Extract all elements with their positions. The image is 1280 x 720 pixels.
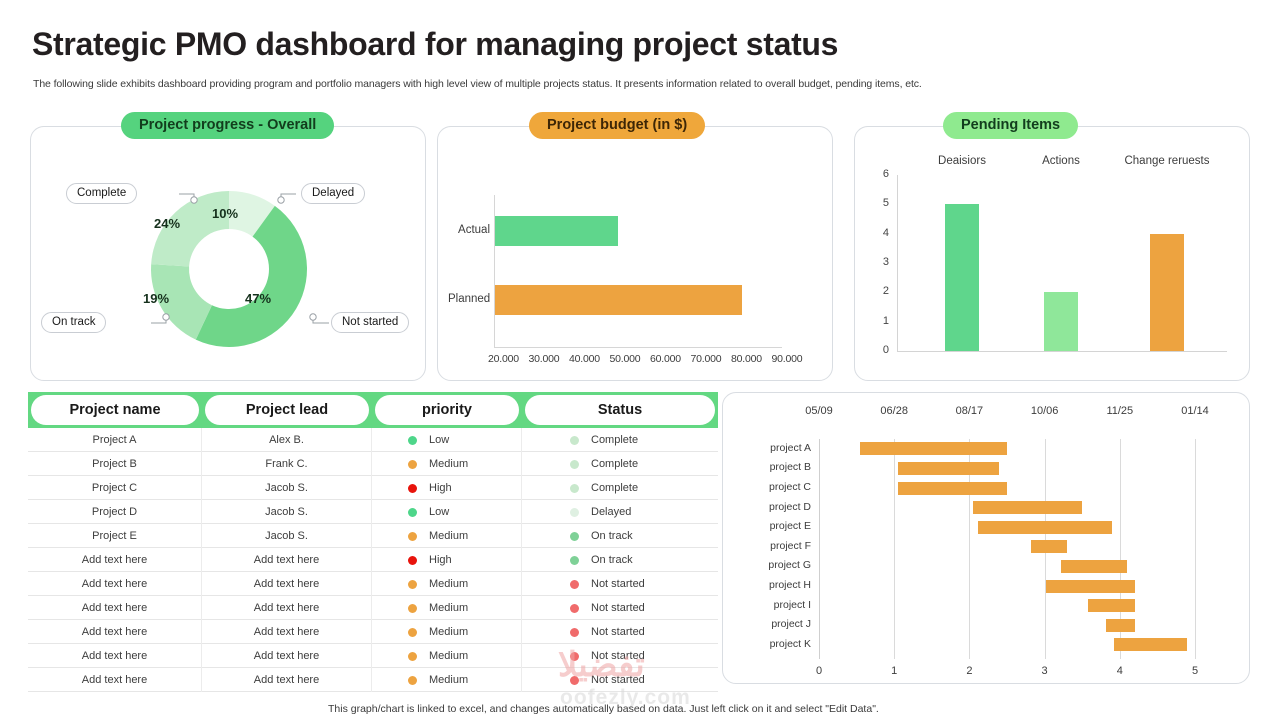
status-label: Complete <box>591 428 638 452</box>
status-dot-icon <box>570 676 579 685</box>
budget-xtick: 90.000 <box>772 353 803 365</box>
priority-label: High <box>429 548 452 572</box>
gantt-row-label: project I <box>739 599 811 611</box>
table-row[interactable]: Add text hereAdd text hereMediumNot star… <box>28 572 718 596</box>
cell-project-name: Project C <box>28 476 202 500</box>
cell-priority: Medium <box>372 620 522 644</box>
gantt-xtick: 0 <box>816 665 822 677</box>
table-row[interactable]: Add text hereAdd text hereMediumNot star… <box>28 620 718 644</box>
cell-project-lead: Frank C. <box>202 452 372 476</box>
table-header-priority[interactable]: priority <box>372 392 522 428</box>
card-project-progress: Project progress - Overall 10%47%19%24%C… <box>30 126 426 381</box>
card-title-project-progress: Project progress - Overall <box>121 112 334 139</box>
donut-chart-project-progress: 10%47%19%24%CompleteDelayedOn trackNot s… <box>31 127 425 380</box>
table-header-project-name[interactable]: Project name <box>28 392 202 428</box>
priority-label: Medium <box>429 452 468 476</box>
card-title-pending-items: Pending Items <box>943 112 1078 139</box>
gantt-date-tick: 08/17 <box>956 405 984 417</box>
cell-project-name: Add text here <box>28 548 202 572</box>
pending-ytick: 5 <box>875 197 889 209</box>
status-label: Complete <box>591 452 638 476</box>
cell-status: On track <box>522 548 718 572</box>
status-dot-icon <box>570 484 579 493</box>
cell-priority: Low <box>372 500 522 524</box>
gantt-xtick: 1 <box>891 665 897 677</box>
cell-status: Complete <box>522 476 718 500</box>
gantt-date-tick: 06/28 <box>880 405 908 417</box>
cell-project-name: Project E <box>28 524 202 548</box>
priority-label: Low <box>429 428 449 452</box>
pending-ytick: 6 <box>875 168 889 180</box>
pending-category-change-reruests: Change reruests <box>1124 155 1209 167</box>
table-body: Project AAlex B.LowCompleteProject BFran… <box>28 428 718 692</box>
cell-project-lead: Add text here <box>202 668 372 692</box>
dashboard-slide: Strategic PMO dashboard for managing pro… <box>0 0 1280 720</box>
cell-status: Not started <box>522 668 718 692</box>
gantt-row-label: project K <box>739 638 811 650</box>
priority-dot-icon <box>408 676 417 685</box>
cell-project-name: Add text here <box>28 668 202 692</box>
budget-xtick: 20.000 <box>488 353 519 365</box>
table-header-status[interactable]: Status <box>522 392 718 428</box>
budget-xtick: 80.000 <box>731 353 762 365</box>
status-dot-icon <box>570 508 579 517</box>
table-header-label: Status <box>525 395 715 425</box>
priority-label: High <box>429 476 452 500</box>
budget-xtick: 70.000 <box>691 353 722 365</box>
cell-project-lead: Jacob S. <box>202 476 372 500</box>
gantt-xtick: 3 <box>1042 665 1048 677</box>
priority-label: Medium <box>429 620 468 644</box>
pending-ytick: 1 <box>875 315 889 327</box>
table-row[interactable]: Project AAlex B.LowComplete <box>28 428 718 452</box>
cell-project-lead: Add text here <box>202 596 372 620</box>
gantt-row-label: project J <box>739 618 811 630</box>
gantt-row-label: project C <box>739 481 811 493</box>
priority-dot-icon <box>408 628 417 637</box>
cell-project-name: Add text here <box>28 596 202 620</box>
table-header-project-lead[interactable]: Project lead <box>202 392 372 428</box>
card-project-schedule: 05/0906/2808/1710/0611/2501/14project Ap… <box>722 392 1250 684</box>
cell-project-name: Project A <box>28 428 202 452</box>
status-label: On track <box>591 524 633 548</box>
budget-x-axis <box>494 347 782 348</box>
budget-xtick: 40.000 <box>569 353 600 365</box>
priority-dot-icon <box>408 460 417 469</box>
page-title: Strategic PMO dashboard for managing pro… <box>32 26 838 63</box>
gantt-y-axis <box>819 439 820 659</box>
cell-status: Not started <box>522 620 718 644</box>
cell-priority: Medium <box>372 524 522 548</box>
table-row[interactable]: Add text hereAdd text hereHighOn track <box>28 548 718 572</box>
priority-label: Medium <box>429 572 468 596</box>
cell-priority: Medium <box>372 668 522 692</box>
table-header-label: Project name <box>31 395 199 425</box>
cell-project-lead: Add text here <box>202 572 372 596</box>
cell-status: Not started <box>522 644 718 668</box>
cell-status: Not started <box>522 572 718 596</box>
cell-priority: High <box>372 476 522 500</box>
pending-bar-change-reruests <box>1150 234 1184 351</box>
pending-bar-deaisiors <box>945 204 979 351</box>
gantt-date-tick: 01/14 <box>1181 405 1209 417</box>
cell-status: Complete <box>522 428 718 452</box>
cell-priority: Medium <box>372 644 522 668</box>
budget-bar-planned <box>495 285 742 315</box>
cell-project-name: Add text here <box>28 572 202 596</box>
gantt-date-tick: 05/09 <box>805 405 833 417</box>
cell-project-lead: Jacob S. <box>202 500 372 524</box>
card-pending-items: Pending Items 6543210DeaisiorsActionsCha… <box>854 126 1250 381</box>
pending-x-axis <box>897 351 1227 352</box>
table-row[interactable]: Add text hereAdd text hereMediumNot star… <box>28 596 718 620</box>
table-row[interactable]: Project DJacob S.LowDelayed <box>28 500 718 524</box>
gantt-chart-project-schedule: 05/0906/2808/1710/0611/2501/14project Ap… <box>723 393 1249 683</box>
gantt-row-label: project G <box>739 559 811 571</box>
priority-label: Medium <box>429 524 468 548</box>
status-label: Not started <box>591 668 645 692</box>
table-row[interactable]: Project BFrank C.MediumComplete <box>28 452 718 476</box>
budget-xtick: 30.000 <box>529 353 560 365</box>
projects-table: Project nameProject leadpriorityStatus P… <box>28 392 718 696</box>
status-dot-icon <box>570 532 579 541</box>
status-dot-icon <box>570 436 579 445</box>
cell-project-lead: Alex B. <box>202 428 372 452</box>
gantt-row-label: project E <box>739 520 811 532</box>
gantt-date-tick: 11/25 <box>1106 405 1133 417</box>
priority-label: Medium <box>429 596 468 620</box>
table-row[interactable]: Add text hereAdd text hereMediumNot star… <box>28 668 718 692</box>
priority-dot-icon <box>408 556 417 565</box>
cell-priority: High <box>372 548 522 572</box>
cell-project-name: Add text here <box>28 644 202 668</box>
gantt-bar-project-i <box>1088 599 1135 612</box>
cell-priority: Low <box>372 428 522 452</box>
gantt-xtick: 4 <box>1117 665 1123 677</box>
cell-priority: Medium <box>372 572 522 596</box>
cell-project-lead: Jacob S. <box>202 524 372 548</box>
gantt-row-label: project H <box>739 579 811 591</box>
gantt-bar-project-a <box>860 442 1007 455</box>
priority-label: Low <box>429 500 449 524</box>
gantt-bar-project-e <box>978 521 1112 534</box>
budget-label-actual: Actual <box>448 224 490 236</box>
gantt-bar-project-c <box>898 482 1007 495</box>
bar-chart-project-budget: ActualPlanned20.00030.00040.00050.00060.… <box>438 127 832 380</box>
status-label: Not started <box>591 572 645 596</box>
table-header-label: priority <box>375 395 519 425</box>
pending-ytick: 0 <box>875 344 889 356</box>
priority-dot-icon <box>408 508 417 517</box>
status-dot-icon <box>570 604 579 613</box>
pending-ytick: 2 <box>875 285 889 297</box>
cell-project-lead: Add text here <box>202 548 372 572</box>
cell-project-lead: Add text here <box>202 644 372 668</box>
status-label: Complete <box>591 476 638 500</box>
status-dot-icon <box>570 652 579 661</box>
card-project-budget: Project budget (in $) ActualPlanned20.00… <box>437 126 833 381</box>
gantt-row-label: project A <box>739 442 811 454</box>
gantt-bar-project-h <box>1046 580 1135 593</box>
status-dot-icon <box>570 628 579 637</box>
gantt-bar-project-f <box>1031 540 1067 553</box>
cell-project-lead: Add text here <box>202 620 372 644</box>
priority-label: Medium <box>429 668 468 692</box>
bar-chart-pending-items: 6543210DeaisiorsActionsChange reruests <box>855 127 1249 380</box>
cell-priority: Medium <box>372 596 522 620</box>
pending-bar-actions <box>1044 292 1078 351</box>
footer-note: This graph/chart is linked to excel, and… <box>328 703 879 715</box>
gantt-row-label: project F <box>739 540 811 552</box>
status-label: On track <box>591 548 633 572</box>
budget-label-planned: Planned <box>448 293 490 305</box>
cell-status: Complete <box>522 452 718 476</box>
priority-dot-icon <box>408 532 417 541</box>
budget-bar-actual <box>495 216 618 246</box>
priority-dot-icon <box>408 652 417 661</box>
gantt-bar-project-g <box>1061 560 1127 573</box>
gantt-row-label: project B <box>739 461 811 473</box>
pending-ytick: 3 <box>875 256 889 268</box>
gantt-date-tick: 10/06 <box>1031 405 1059 417</box>
table-header-row: Project nameProject leadpriorityStatus <box>28 392 718 428</box>
table-row[interactable]: Project EJacob S.MediumOn track <box>28 524 718 548</box>
gantt-xtick: 2 <box>966 665 972 677</box>
card-title-project-budget: Project budget (in $) <box>529 112 705 139</box>
table-row[interactable]: Project CJacob S.HighComplete <box>28 476 718 500</box>
cell-project-name: Project D <box>28 500 202 524</box>
budget-xtick: 60.000 <box>650 353 681 365</box>
priority-dot-icon <box>408 580 417 589</box>
cell-priority: Medium <box>372 452 522 476</box>
status-label: Delayed <box>591 500 631 524</box>
priority-dot-icon <box>408 436 417 445</box>
gantt-gridline <box>894 439 895 659</box>
gantt-bar-project-k <box>1114 638 1188 651</box>
page-subtitle: The following slide exhibits dashboard p… <box>33 78 922 90</box>
budget-xtick: 50.000 <box>610 353 641 365</box>
priority-dot-icon <box>408 604 417 613</box>
callout-leader-lines <box>31 127 427 382</box>
cell-status: Not started <box>522 596 718 620</box>
gantt-bar-project-d <box>973 501 1082 514</box>
gantt-row-label: project D <box>739 501 811 513</box>
status-label: Not started <box>591 644 645 668</box>
status-label: Not started <box>591 596 645 620</box>
cell-status: On track <box>522 524 718 548</box>
priority-dot-icon <box>408 484 417 493</box>
pending-category-deaisiors: Deaisiors <box>938 155 986 167</box>
pending-y-axis <box>897 175 898 351</box>
status-dot-icon <box>570 580 579 589</box>
gantt-gridline <box>1195 439 1196 659</box>
gantt-xtick: 5 <box>1192 665 1198 677</box>
pending-category-actions: Actions <box>1042 155 1080 167</box>
status-dot-icon <box>570 460 579 469</box>
pending-ytick: 4 <box>875 227 889 239</box>
cell-status: Delayed <box>522 500 718 524</box>
cell-project-name: Project B <box>28 452 202 476</box>
gantt-bar-project-j <box>1106 619 1135 632</box>
table-header-label: Project lead <box>205 395 369 425</box>
table-row[interactable]: Add text hereAdd text hereMediumNot star… <box>28 644 718 668</box>
status-label: Not started <box>591 620 645 644</box>
gantt-bar-project-b <box>898 462 1000 475</box>
cell-project-name: Add text here <box>28 620 202 644</box>
status-dot-icon <box>570 556 579 565</box>
priority-label: Medium <box>429 644 468 668</box>
